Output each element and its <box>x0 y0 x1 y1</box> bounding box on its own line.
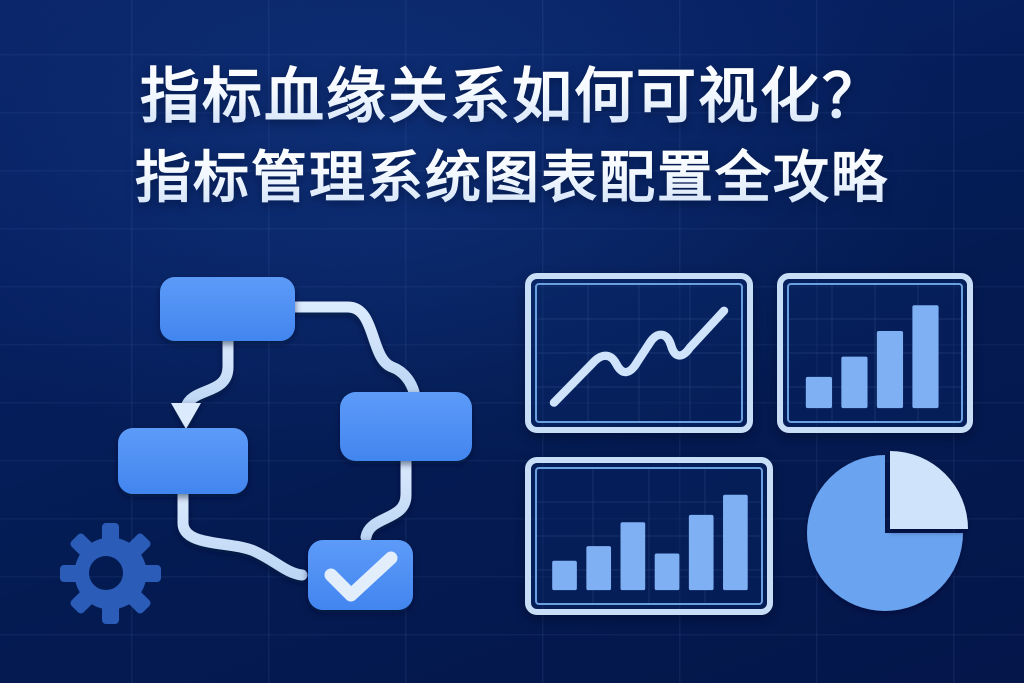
bar-chart-b-svg <box>537 469 761 603</box>
line-chart-plot-area <box>535 283 743 423</box>
bar <box>586 546 611 590</box>
title-line-secondary: 指标管理系统图表配置全攻略 <box>0 145 1024 211</box>
bar <box>655 553 680 590</box>
bar <box>877 331 903 408</box>
bar <box>621 522 646 590</box>
flow-node-check[interactable] <box>308 540 413 610</box>
bar <box>841 357 867 408</box>
bar-chart-b-bars <box>552 495 748 590</box>
pie-chart[interactable] <box>797 447 983 627</box>
flow-node-1[interactable] <box>160 277 295 341</box>
chart-cluster <box>505 255 1005 645</box>
pie-chart-svg <box>797 447 983 627</box>
connector-node1-to-node2 <box>186 339 228 407</box>
bar <box>552 561 577 590</box>
bar <box>689 515 714 590</box>
metric-lineage-flow-diagram <box>40 255 510 655</box>
flow-node-3[interactable] <box>340 392 472 461</box>
bar <box>912 305 938 408</box>
bar-chart-card-top-right[interactable] <box>777 273 973 433</box>
bar-chart-a-svg <box>789 285 961 421</box>
title-line-primary: 指标血缘关系如何可视化？ <box>0 62 1024 133</box>
flow-node-2[interactable] <box>118 428 248 494</box>
bar-chart-a-plot-area <box>787 283 963 423</box>
bar <box>723 495 748 590</box>
flow-diagram-svg <box>40 255 510 655</box>
arrowhead-node1-to-node2 <box>171 403 201 429</box>
bar <box>806 377 832 408</box>
line-chart-svg <box>537 285 741 421</box>
poster-canvas: 指标血缘关系如何可视化？ 指标管理系统图表配置全攻略 <box>0 0 1024 683</box>
gear-icon <box>60 523 161 624</box>
pie-slice-minor <box>890 451 968 529</box>
bar-chart-card-bottom-left[interactable] <box>525 457 773 615</box>
line-chart-card[interactable] <box>525 273 753 433</box>
bar-chart-b-plot-area <box>535 467 763 605</box>
connector-node3-to-check <box>366 458 406 537</box>
connector-node1-to-node3 <box>292 307 414 392</box>
connector-node2-to-check <box>183 491 302 575</box>
page-title: 指标血缘关系如何可视化？ 指标管理系统图表配置全攻略 <box>0 62 1024 211</box>
bar-chart-a-bars <box>806 305 939 408</box>
